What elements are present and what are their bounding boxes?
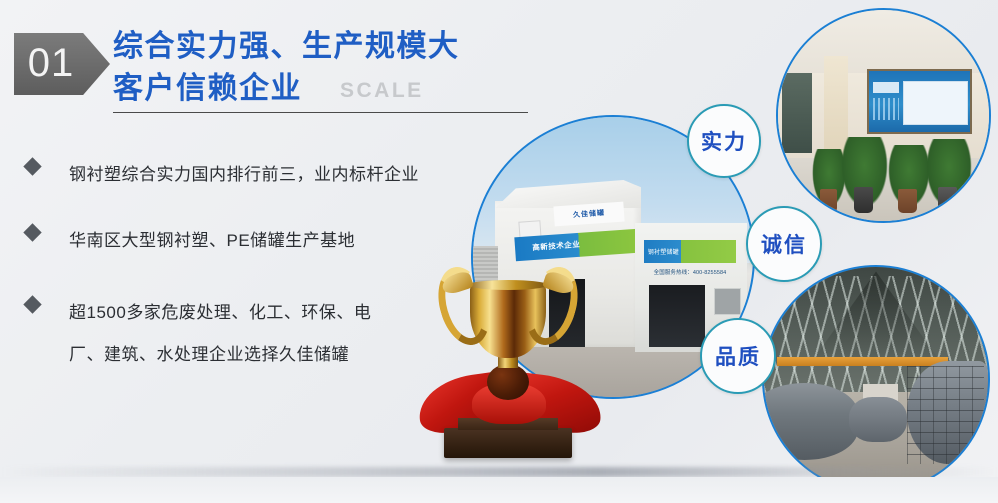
floor-shadow [0, 467, 998, 477]
plant-pot [938, 187, 957, 212]
building-window [714, 288, 741, 315]
storage-tank [762, 383, 858, 459]
lobby-doorway [782, 73, 812, 153]
overhead-crane-beam [777, 357, 947, 366]
product-sign-text: 钢衬塑储罐 [644, 247, 679, 256]
office-lobby-photo [776, 8, 991, 223]
section-number: 01 [14, 33, 88, 95]
storage-tank [849, 397, 907, 442]
diamond-bullet-icon [23, 223, 41, 241]
floor-strip [0, 477, 998, 503]
badge-integrity: 诚信 [746, 206, 822, 282]
board-panel [903, 81, 968, 125]
trophy-knob [487, 364, 529, 400]
building-door-right [649, 285, 705, 347]
list-item-line: 厂、建筑、水处理企业选择久佳储罐 [69, 334, 371, 376]
badge-strength: 实力 [687, 104, 761, 178]
diamond-bullet-icon [23, 295, 41, 313]
heading-line-1: 综合实力强、生产规模大 [113, 32, 460, 62]
hotline-text: 全国服务热线：400-8255584 [644, 267, 736, 278]
tank-scaffolding [907, 366, 983, 465]
list-item-text: 华南区大型钢衬塑、PE储罐生产基地 [69, 220, 355, 262]
information-board [867, 69, 973, 134]
golden-trophy-award [418, 246, 598, 458]
list-item: 华南区大型钢衬塑、PE储罐生产基地 [26, 220, 355, 262]
board-chart-graphic [873, 98, 899, 120]
list-item-text: 超1500多家危废处理、化工、环保、电 厂、建筑、水处理企业选择久佳储罐 [69, 292, 371, 376]
list-item-text: 钢衬塑综合实力国内排行前三，业内标杆企业 [69, 154, 419, 196]
product-sign: 钢衬塑储罐 [644, 240, 736, 262]
plant-pot [820, 189, 837, 212]
heading-line-2: 客户信赖企业 [113, 74, 302, 104]
workshop-interior-photo [762, 265, 990, 493]
list-item-line: 华南区大型钢衬塑、PE储罐生产基地 [69, 220, 355, 262]
list-item-line: 钢衬塑综合实力国内排行前三，业内标杆企业 [69, 154, 419, 196]
badge-quality: 品质 [700, 318, 776, 394]
heading-english: SCALE [340, 80, 424, 101]
list-item-line: 超1500多家危废处理、化工、环保、电 [69, 292, 371, 334]
banner-header: 01 综合实力强、生产规模大 客户信赖企业 SCALE [0, 0, 560, 132]
plant-pot [898, 189, 917, 212]
list-item: 超1500多家危废处理、化工、环保、电 厂、建筑、水处理企业选择久佳储罐 [26, 292, 371, 376]
promo-banner: 01 综合实力强、生产规模大 客户信赖企业 SCALE 钢衬塑综合实力国内排行前… [0, 0, 998, 503]
section-number-badge: 01 [14, 33, 110, 95]
board-caption-block [873, 82, 899, 93]
diamond-bullet-icon [23, 157, 41, 175]
heading-divider [113, 112, 528, 113]
trophy-base [444, 428, 572, 458]
list-item: 钢衬塑综合实力国内排行前三，业内标杆企业 [26, 154, 419, 196]
plant-pot [854, 187, 873, 212]
